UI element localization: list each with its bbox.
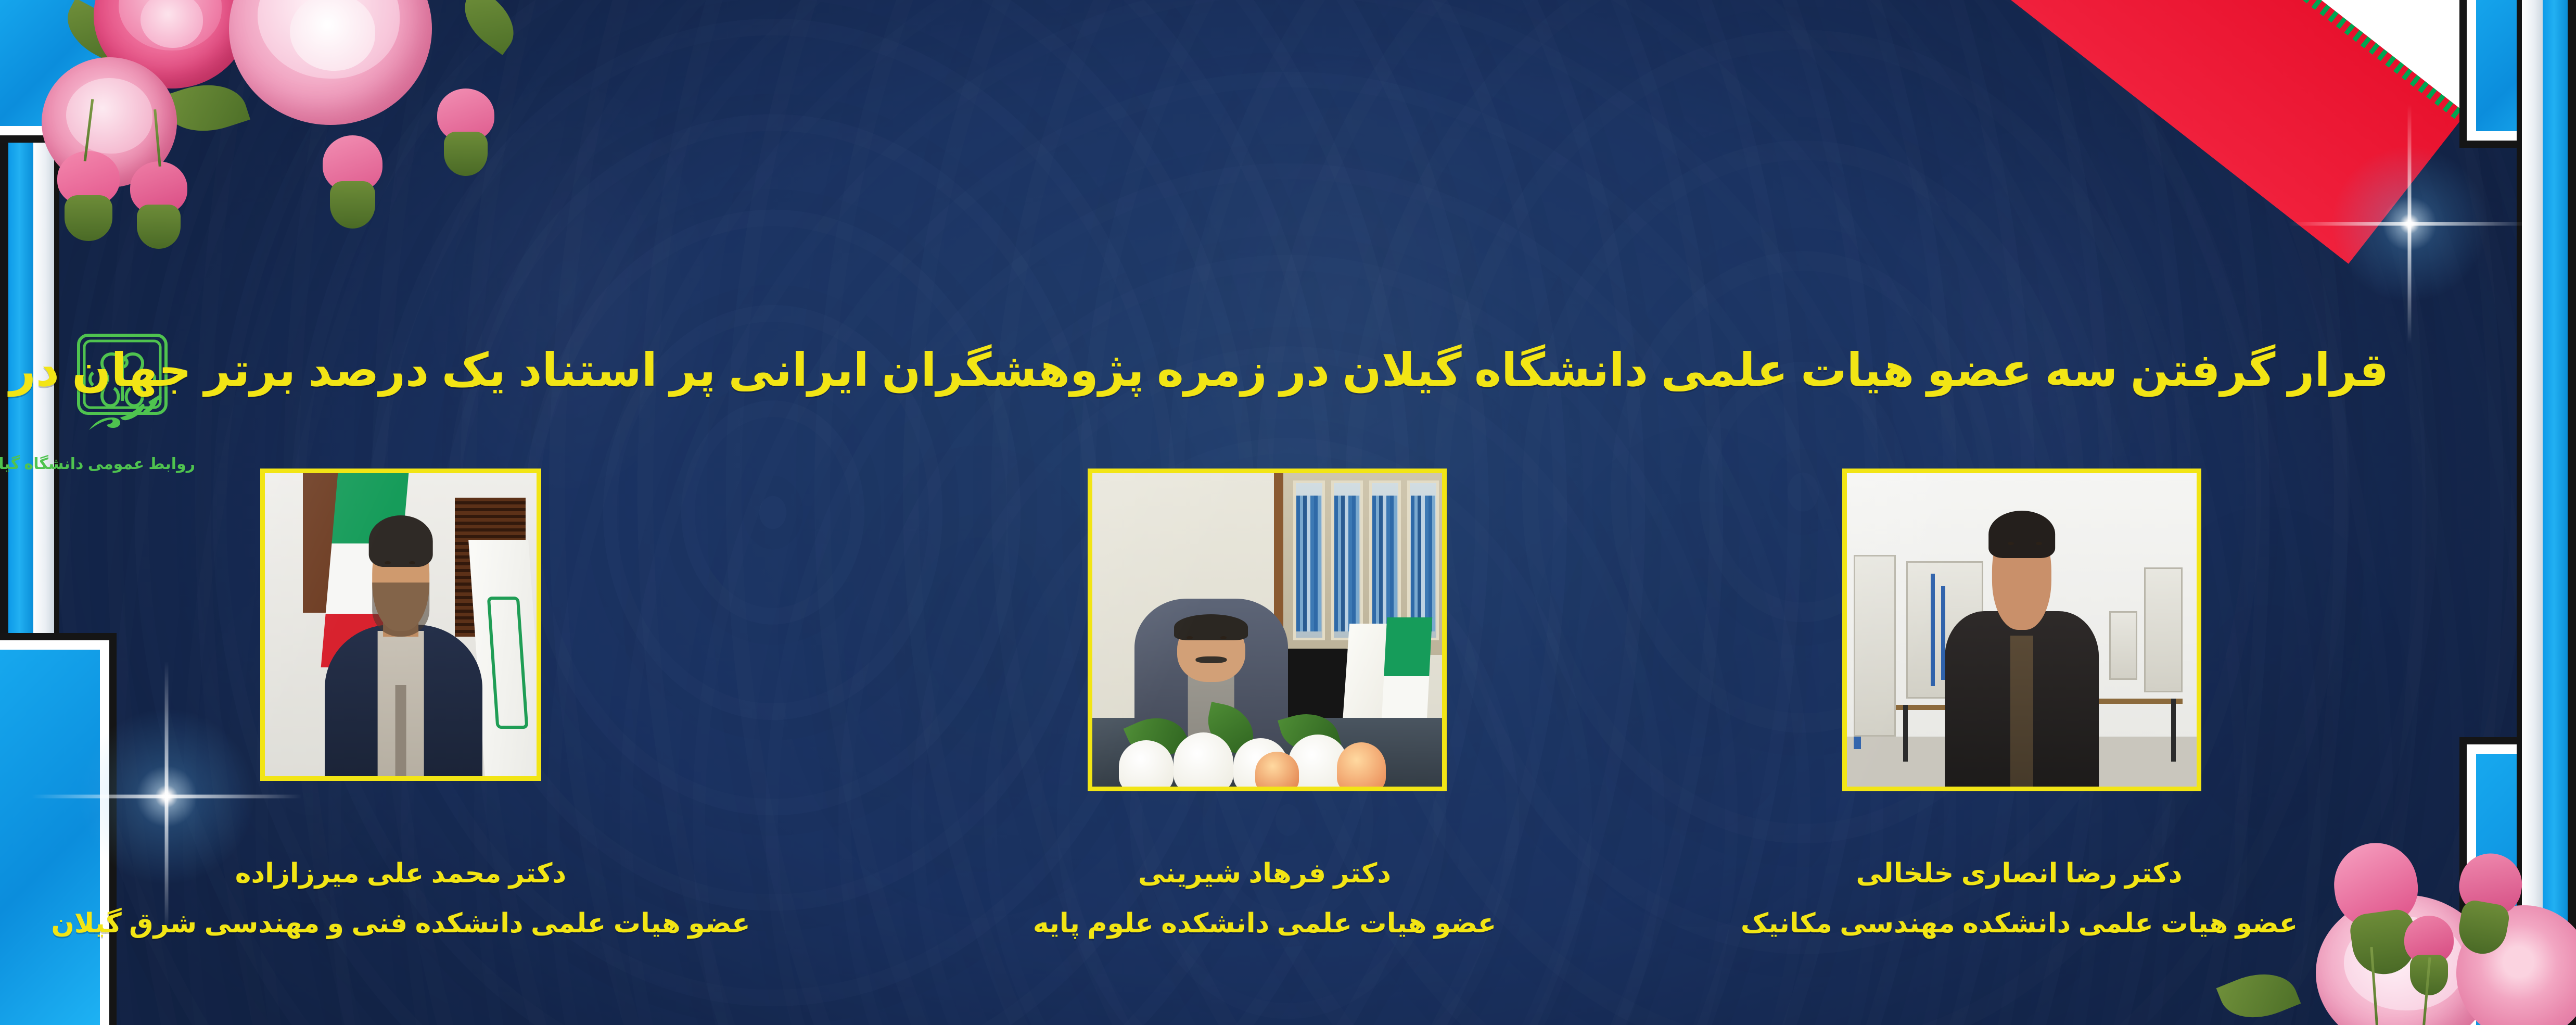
corner-panel-top-left: [0, 0, 114, 135]
edge-dark-rule-right: [2568, 0, 2576, 1025]
right-edge-frame: [2467, 0, 2576, 1025]
corner-panel-bottom-left: [0, 640, 109, 1025]
person-photo-3: [1842, 469, 2201, 791]
corner-panel-frame: [0, 0, 114, 135]
corner-panel-frame: [0, 640, 109, 1025]
person-caption-3: دکتر رضا انصاری خلخالی عضو هیات علمی دان…: [1741, 849, 2298, 948]
page-title: قرار گرفتن سه عضو هیات علمی دانشگاه گیلا…: [182, 344, 2389, 396]
person-role-2: عضو هیات علمی دانشکده علوم پایه: [1033, 899, 1496, 948]
person-name-2: دکتر فرهاد شیرینی: [1033, 849, 1496, 899]
person-name-3: دکتر رضا انصاری خلخالی: [1741, 849, 2298, 899]
person-role-1: عضو هیات علمی دانشکده فنی و مهندسی شرق گ…: [51, 899, 750, 948]
edge-inner-rule-right: [2517, 0, 2522, 1025]
person-caption-2: دکتر فرهاد شیرینی عضو هیات علمی دانشکده …: [1033, 849, 1496, 948]
banner-root: روابط عمومی دانشگاه گیلان قرار گرفتن سه …: [0, 0, 2576, 1025]
person-role-3: عضو هیات علمی دانشکده مهندسی مکانیک: [1741, 899, 2298, 948]
person-card-1: [260, 469, 541, 781]
person-caption-1: دکتر محمد علی میرزازاده عضو هیات علمی دا…: [51, 849, 750, 948]
edge-cyan-strip-right: [2543, 0, 2568, 1025]
logo-subtitle: روابط عمومی دانشگاه گیلان: [49, 455, 195, 473]
edge-white-strip-right: [2522, 0, 2543, 1025]
person-card-2: [1088, 469, 1447, 791]
person-photo-1: [260, 469, 541, 781]
person-card-3: [1842, 469, 2201, 791]
person-photo-2: [1088, 469, 1447, 791]
person-name-1: دکتر محمد علی میرزازاده: [51, 849, 750, 899]
